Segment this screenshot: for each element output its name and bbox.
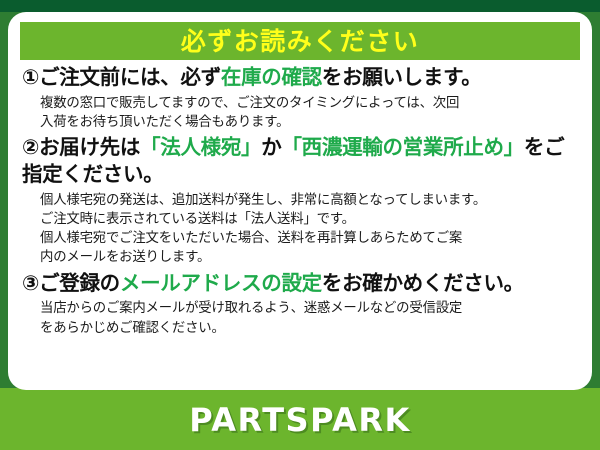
- notice-item-2-head-mid: か: [261, 135, 281, 159]
- notice-item-1-head-text-a: ご注文前には、必ず: [39, 65, 221, 89]
- header-banner: 必ずお読みください: [20, 22, 580, 60]
- notice-item-3-highlight: メールアドレスの設定: [120, 271, 322, 295]
- brand-name: PARTSPARK: [189, 404, 411, 436]
- frame-top-border: [0, 0, 600, 12]
- notice-item-3-heading: ③ご登録のメールアドレスの設定をお確かめください。: [22, 270, 582, 297]
- notice-card: 必ずお読みください ①ご注文前には、必ず在庫の確認をお願いします。 複数の窓口で…: [8, 12, 592, 390]
- notice-item-1-subtext: 複数の窓口で販売してますので、ご注文のタイミングによっては、次回 入荷をお待ち頂…: [40, 94, 582, 133]
- notice-item-2-highlight-1: 「法人様宛」: [140, 135, 261, 159]
- notice-item-2-heading: ②お届け先は「法人様宛」か「西濃運輸の営業所止め」をご指定ください。: [22, 134, 582, 187]
- notice-item-3-head-text-b: をお確かめください。: [322, 271, 524, 295]
- notice-items-list: ①ご注文前には、必ず在庫の確認をお願いします。 複数の窓口で販売してますので、ご…: [8, 64, 592, 340]
- notice-item-1-heading: ①ご注文前には、必ず在庫の確認をお願いします。: [22, 64, 582, 91]
- notice-item-3-marker: ③: [22, 271, 39, 295]
- brand-footer: PARTSPARK: [0, 390, 600, 450]
- notice-item-1: ①ご注文前には、必ず在庫の確認をお願いします。 複数の窓口で販売してますので、ご…: [22, 64, 582, 132]
- header-title: 必ずお読みください: [181, 29, 420, 54]
- notice-item-1-head-text-b: をお願いします。: [322, 65, 482, 89]
- notice-item-1-highlight: 在庫の確認: [221, 65, 322, 89]
- notice-item-2-marker: ②: [22, 135, 39, 159]
- notice-item-2-head-text-a: お届け先は: [39, 135, 140, 159]
- notice-item-1-marker: ①: [22, 65, 39, 89]
- notice-item-3-head-text-a: ご登録の: [39, 271, 120, 295]
- notice-item-2-highlight-2: 「西濃運輸の営業所止め」: [281, 135, 523, 159]
- notice-banner: 必ずお読みください ①ご注文前には、必ず在庫の確認をお願いします。 複数の窓口で…: [0, 0, 600, 450]
- notice-item-3-subtext: 当店からのご案内メールが受け取れるよう、迷惑メールなどの受信設定 をあらかじめご…: [40, 299, 582, 338]
- notice-item-2-subtext: 個人様宅宛の発送は、追加送料が発生し、非常に高額となってしまいます。 ご注文時に…: [40, 191, 582, 268]
- notice-item-2: ②お届け先は「法人様宛」か「西濃運輸の営業所止め」をご指定ください。 個人様宅宛…: [22, 134, 582, 267]
- notice-item-3: ③ご登録のメールアドレスの設定をお確かめください。 当店からのご案内メールが受け…: [22, 270, 582, 338]
